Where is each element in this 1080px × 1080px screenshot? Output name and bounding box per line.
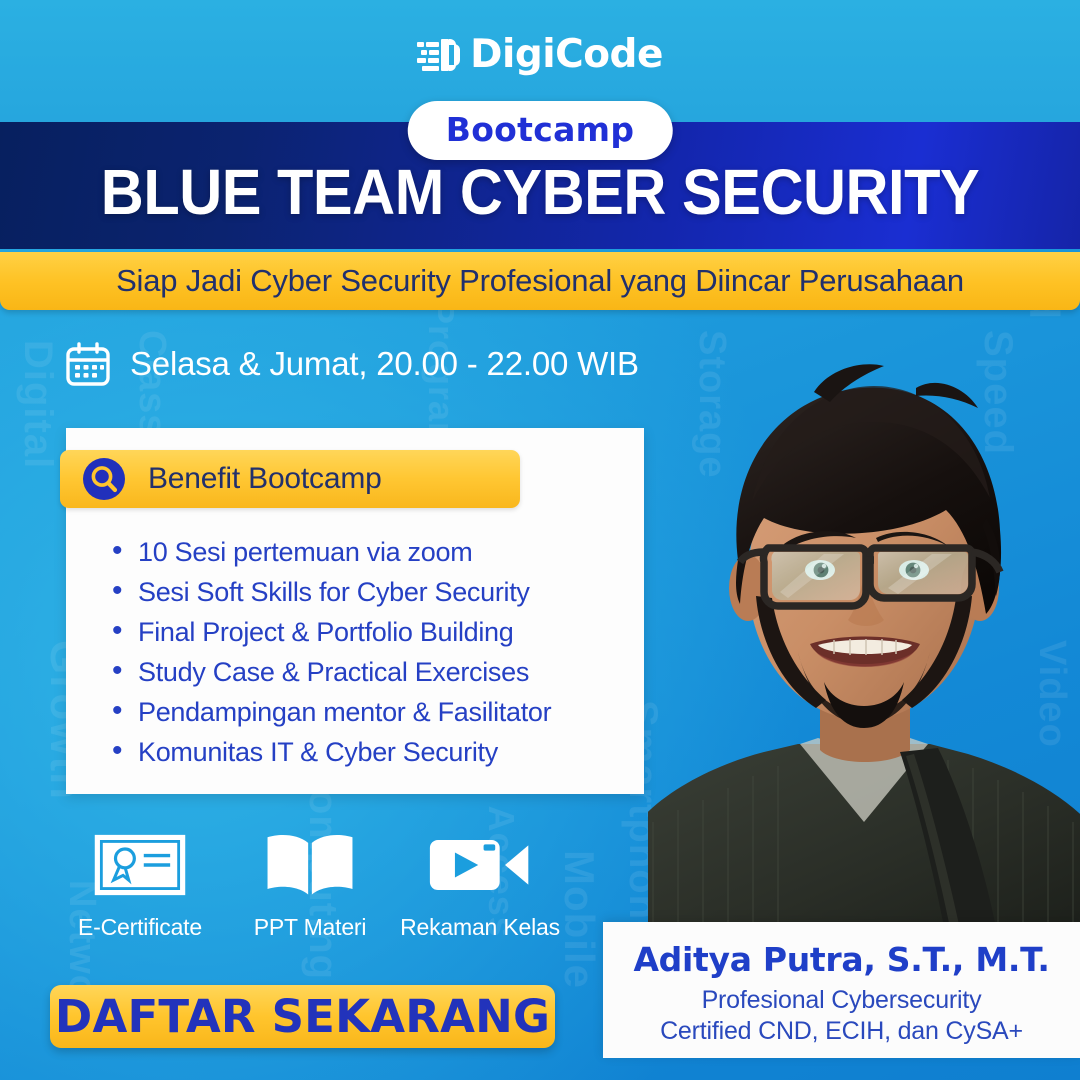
background-word: Digital xyxy=(15,340,60,469)
list-item: Final Project & Portfolio Building xyxy=(108,612,630,652)
list-item: 10 Sesi pertemuan via zoom xyxy=(108,532,630,572)
benefits-card: Benefit Bootcamp 10 Sesi pertemuan via z… xyxy=(66,428,644,794)
page-title: BLUE TEAM CYBER SECURITY xyxy=(38,160,1042,224)
list-item: Pendampingan mentor & Fasilitator xyxy=(108,692,630,732)
list-item: Komunitas IT & Cyber Security xyxy=(108,732,630,772)
calendar-icon xyxy=(64,340,112,388)
feature-rekaman-kelas: Rekaman Kelas xyxy=(400,826,560,941)
register-button[interactable]: DAFTAR SEKARANG xyxy=(50,985,555,1048)
open-book-icon xyxy=(230,826,390,904)
benefits-card-title: Benefit Bootcamp xyxy=(148,462,382,496)
subtitle-text: Siap Jadi Cyber Security Profesional yan… xyxy=(116,263,964,299)
bootcamp-badge: Bootcamp xyxy=(408,101,673,160)
list-item: Study Case & Practical Exercises xyxy=(108,652,630,692)
feature-e-certificate: E-Certificate xyxy=(60,826,220,941)
benefits-card-header: Benefit Bootcamp xyxy=(60,450,520,508)
speaker-name: Aditya Putra, S.T., M.T. xyxy=(603,940,1080,979)
poster-canvas: Code Market Software Workspace Data Down… xyxy=(0,0,1080,1080)
brand-logo: DigiCode xyxy=(0,32,1080,77)
speaker-certifications: Certified CND, ECIH, dan CySA+ xyxy=(603,1017,1080,1046)
video-camera-icon xyxy=(400,826,560,904)
feature-label: Rekaman Kelas xyxy=(400,914,560,941)
speaker-role: Profesional Cybersecurity xyxy=(603,986,1080,1015)
certificate-icon xyxy=(60,826,220,904)
subtitle-bar: Siap Jadi Cyber Security Profesional yan… xyxy=(0,252,1080,310)
benefits-list: 10 Sesi pertemuan via zoom Sesi Soft Ski… xyxy=(108,532,630,772)
search-circle-icon xyxy=(82,457,126,501)
schedule-text: Selasa & Jumat, 20.00 - 22.00 WIB xyxy=(130,345,639,383)
list-item: Sesi Soft Skills for Cyber Security xyxy=(108,572,630,612)
brand-name: DigiCode xyxy=(470,32,663,77)
speaker-portrait xyxy=(648,352,1080,948)
schedule-row: Selasa & Jumat, 20.00 - 22.00 WIB xyxy=(64,340,639,388)
digicode-pixel-logo-icon xyxy=(417,38,461,72)
feature-label: E-Certificate xyxy=(60,914,220,941)
background-word: Mobile xyxy=(555,850,603,989)
features-row: E-Certificate PPT Materi Rekaman Kelas xyxy=(60,826,560,941)
speaker-info-card: Aditya Putra, S.T., M.T. Profesional Cyb… xyxy=(603,922,1080,1058)
feature-ppt-materi: PPT Materi xyxy=(230,826,390,941)
register-button-label: DAFTAR SEKARANG xyxy=(55,990,550,1043)
bootcamp-badge-label: Bootcamp xyxy=(446,110,635,149)
feature-label: PPT Materi xyxy=(230,914,390,941)
